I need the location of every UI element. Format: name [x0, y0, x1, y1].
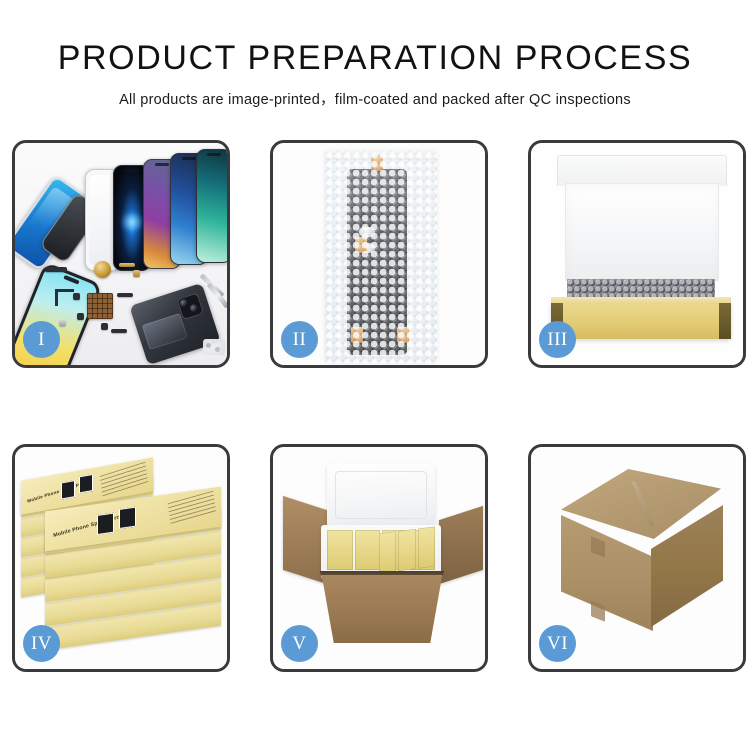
- screws-bag: [203, 339, 225, 355]
- notch-icon: [155, 163, 169, 166]
- wire-part: [55, 289, 74, 306]
- carton-front-panel: [315, 575, 449, 643]
- antenna-cable-part: [111, 329, 127, 333]
- step-badge-3: III: [539, 321, 576, 358]
- step-badge-4: IV: [23, 625, 60, 662]
- box-front-panel: [551, 303, 731, 339]
- notch-icon: [182, 157, 196, 160]
- speaker-part: [101, 323, 108, 330]
- inner-box: [327, 530, 353, 570]
- foam-tray: [321, 525, 441, 579]
- process-step-grid: I II: [12, 140, 746, 672]
- box-spec-text-block: [100, 462, 149, 498]
- product-preparation-infographic: PRODUCT PREPARATION PROCESS All products…: [0, 0, 750, 750]
- step-badge-5: V: [281, 625, 318, 662]
- step-badge-6: VI: [539, 625, 576, 662]
- gold-connector-part: [119, 263, 135, 267]
- step-badge-2: II: [281, 321, 318, 358]
- process-step-5: V: [270, 444, 488, 672]
- button-part: [77, 313, 84, 320]
- box-window-1: [61, 480, 75, 499]
- inner-box-row-right: [379, 527, 435, 574]
- metal-bracket-part: [59, 319, 66, 326]
- gold-coil-part: [94, 261, 111, 278]
- teal-gradient-phone: [196, 149, 227, 263]
- step-badge-1: I: [23, 321, 60, 358]
- bubble-texture-overlay: [325, 151, 437, 363]
- notch-icon: [125, 169, 139, 172]
- circuit-board-part: [87, 293, 113, 319]
- battery-part: [142, 313, 188, 350]
- page-title: PRODUCT PREPARATION PROCESS: [0, 0, 750, 77]
- process-step-2: II: [270, 140, 488, 368]
- process-step-4: Mobile Phone Spare Parts Mobile Phone Sp…: [12, 444, 230, 672]
- process-step-3: III: [528, 140, 746, 368]
- header: PRODUCT PREPARATION PROCESS All products…: [0, 0, 750, 109]
- ribbon-cable-part: [117, 293, 133, 297]
- carton-flap-right: [439, 506, 483, 584]
- bubble-wrap-bag: [325, 151, 437, 363]
- flex-cable-part: [45, 267, 67, 272]
- inner-box: [355, 530, 381, 570]
- small-ic-part: [73, 293, 80, 300]
- inner-box: [418, 527, 435, 569]
- process-step-6: VI: [528, 444, 746, 672]
- gold-contact-part: [133, 270, 140, 277]
- foam-sheet: [565, 183, 719, 281]
- inner-box: [379, 531, 396, 573]
- inner-box: [398, 529, 415, 571]
- box-window-1: [97, 513, 114, 535]
- process-step-1: I: [12, 140, 230, 368]
- box-window-2: [119, 507, 136, 529]
- box-lid-inner: [557, 155, 727, 186]
- foam-lid: [327, 463, 435, 529]
- box-spec-text-block: [168, 491, 217, 525]
- notch-icon: [207, 153, 221, 156]
- page-subtitle: All products are image-printed，film-coat…: [0, 77, 750, 109]
- box-corner-right: [719, 303, 731, 339]
- box-window-2: [79, 474, 93, 493]
